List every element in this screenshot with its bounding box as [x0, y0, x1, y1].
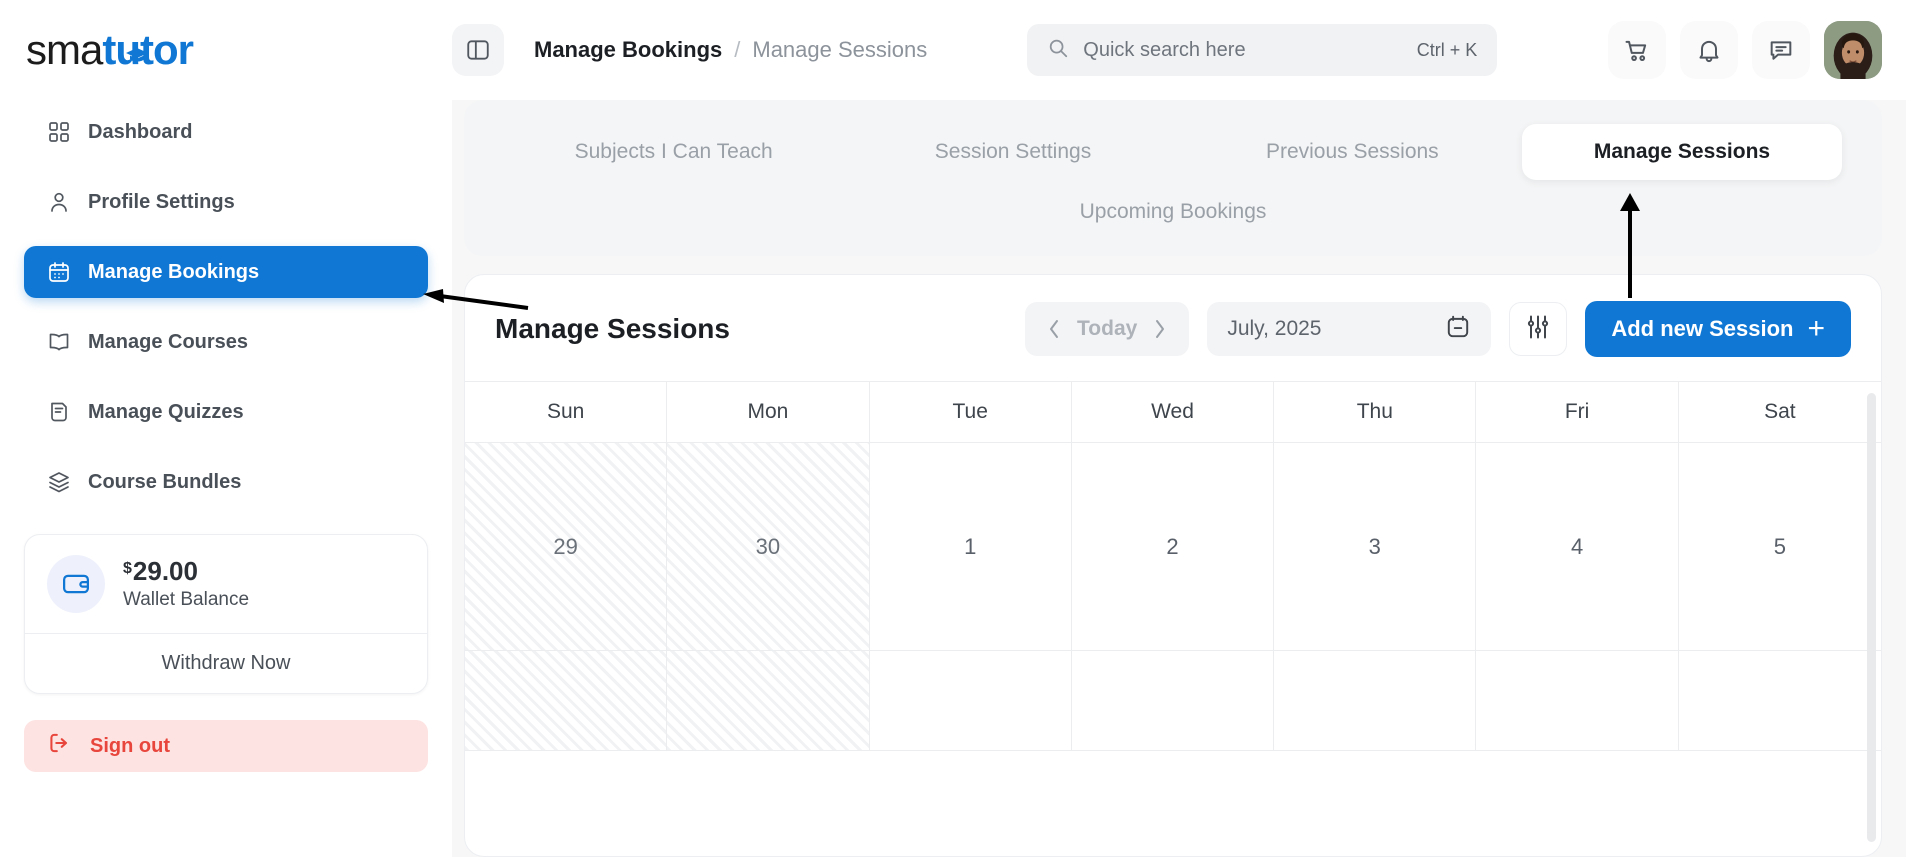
calendar-week-row — [465, 651, 1881, 751]
sign-out-label: Sign out — [90, 735, 170, 758]
plus-icon: + — [1807, 314, 1825, 344]
sidebar: smatutor Dashboard Profile Settings — [0, 0, 452, 857]
search-shortcut: Ctrl + K — [1417, 40, 1478, 61]
sidebar-item-label: Manage Courses — [88, 331, 248, 354]
wallet-amount: $29.00 — [123, 557, 249, 587]
currency-symbol: $ — [123, 560, 132, 577]
calendar-day-cell[interactable] — [1274, 651, 1476, 751]
calendar-day-cell[interactable] — [1476, 651, 1678, 751]
panel-toggle-icon[interactable] — [452, 24, 504, 76]
brand-logo[interactable]: smatutor — [24, 0, 428, 100]
wallet-card: $29.00 Wallet Balance Withdraw Now — [24, 534, 428, 694]
cart-icon[interactable] — [1608, 21, 1666, 79]
chat-icon[interactable] — [1752, 21, 1810, 79]
weekday-header-row: Sun Mon Tue Wed Thu Fri Sat — [465, 381, 1881, 443]
calendar-day-cell[interactable]: 29 — [465, 443, 667, 651]
book-icon — [46, 329, 72, 355]
add-new-session-button[interactable]: Add new Session + — [1585, 301, 1851, 357]
wallet-text: $29.00 Wallet Balance — [123, 557, 249, 611]
tab-session-settings[interactable]: Session Settings — [843, 124, 1182, 180]
calendar-grid: Sun Mon Tue Wed Thu Fri Sat 29 30 1 2 3 — [465, 381, 1881, 856]
weekday-thu: Thu — [1274, 382, 1476, 443]
breadcrumb-separator: / — [734, 37, 740, 63]
sidebar-nav: Dashboard Profile Settings Manage Bookin… — [24, 106, 428, 508]
avatar[interactable] — [1824, 21, 1882, 79]
sidebar-item-dashboard[interactable]: Dashboard — [24, 106, 428, 158]
sidebar-item-label: Course Bundles — [88, 471, 241, 494]
search-placeholder: Quick search here — [1083, 39, 1402, 62]
tab-previous-sessions[interactable]: Previous Sessions — [1183, 124, 1522, 180]
calendar-day-cell[interactable]: 2 — [1072, 443, 1274, 651]
calendar-day-cell[interactable] — [1679, 651, 1881, 751]
sidebar-item-manage-quizzes[interactable]: Manage Quizzes — [24, 386, 428, 438]
calendar-day-cell[interactable] — [870, 651, 1072, 751]
weekday-sun: Sun — [465, 382, 667, 443]
calendar-day-cell[interactable]: 4 — [1476, 443, 1678, 651]
tab-bar: Subjects I Can Teach Session Settings Pr… — [464, 100, 1882, 256]
wallet-summary: $29.00 Wallet Balance — [25, 535, 427, 633]
add-new-session-label: Add new Session — [1611, 316, 1793, 342]
sidebar-item-profile-settings[interactable]: Profile Settings — [24, 176, 428, 228]
calendar-week-row: 29 30 1 2 3 4 5 — [465, 443, 1881, 651]
wallet-label: Wallet Balance — [123, 589, 249, 611]
tab-upcoming-bookings[interactable]: Upcoming Bookings — [1050, 194, 1297, 230]
sidebar-item-manage-bookings[interactable]: Manage Bookings — [24, 246, 428, 298]
filter-button[interactable] — [1509, 302, 1567, 356]
graduation-cap-icon — [126, 27, 148, 69]
breadcrumb-current: Manage Sessions — [752, 37, 927, 63]
main-column: Manage Bookings / Manage Sessions Quick … — [452, 0, 1906, 857]
sidebar-item-label: Manage Quizzes — [88, 401, 244, 424]
avatar-image — [1824, 21, 1882, 79]
quiz-icon — [46, 399, 72, 425]
calendar-day-cell[interactable] — [1072, 651, 1274, 751]
calendar-toolbar: Manage Sessions Today July, 2025 — [465, 275, 1881, 381]
top-bar: Manage Bookings / Manage Sessions Quick … — [452, 0, 1906, 100]
today-label: Today — [1077, 317, 1137, 341]
chevron-right-icon[interactable] — [1153, 318, 1167, 340]
tab-manage-sessions[interactable]: Manage Sessions — [1522, 124, 1842, 180]
tab-row-secondary: Upcoming Bookings — [504, 194, 1842, 230]
calendar-day-cell[interactable]: 3 — [1274, 443, 1476, 651]
bell-icon[interactable] — [1680, 21, 1738, 79]
calendar-day-cell[interactable]: 30 — [667, 443, 869, 651]
breadcrumb: Manage Bookings / Manage Sessions — [534, 37, 927, 63]
sidebar-item-label: Profile Settings — [88, 191, 235, 214]
grid-icon — [46, 119, 72, 145]
calendar-minus-icon — [1445, 314, 1471, 345]
weekday-fri: Fri — [1476, 382, 1678, 443]
sidebar-item-course-bundles[interactable]: Course Bundles — [24, 456, 428, 508]
sidebar-item-manage-courses[interactable]: Manage Courses — [24, 316, 428, 368]
weekday-mon: Mon — [667, 382, 869, 443]
tab-subjects-i-can-teach[interactable]: Subjects I Can Teach — [504, 124, 843, 180]
calendar-day-cell[interactable] — [667, 651, 869, 751]
top-bar-actions — [1608, 21, 1882, 79]
breadcrumb-parent[interactable]: Manage Bookings — [534, 37, 722, 63]
calendar-day-cell[interactable]: 1 — [870, 443, 1072, 651]
withdraw-now-button[interactable]: Withdraw Now — [25, 634, 427, 693]
sidebar-item-label: Dashboard — [88, 121, 192, 144]
sliders-icon — [1524, 313, 1552, 346]
sign-out-button[interactable]: Sign out — [24, 720, 428, 772]
app-root: smatutor Dashboard Profile Settings — [0, 0, 1906, 857]
layers-icon — [46, 469, 72, 495]
user-icon — [46, 189, 72, 215]
content-area: Subjects I Can Teach Session Settings Pr… — [452, 100, 1906, 857]
weekday-wed: Wed — [1072, 382, 1274, 443]
logout-icon — [46, 730, 72, 762]
calendar-card: Manage Sessions Today July, 2025 — [464, 274, 1882, 857]
page-title: Manage Sessions — [495, 313, 730, 345]
logo-part-1: sma — [26, 26, 102, 73]
month-picker[interactable]: July, 2025 — [1207, 302, 1491, 356]
wallet-amount-value: 29.00 — [133, 556, 198, 586]
tab-row-primary: Subjects I Can Teach Session Settings Pr… — [504, 124, 1842, 180]
calendar-day-cell[interactable]: 5 — [1679, 443, 1881, 651]
weekday-sat: Sat — [1679, 382, 1881, 443]
search-input[interactable]: Quick search here Ctrl + K — [1027, 24, 1497, 76]
chevron-left-icon[interactable] — [1047, 318, 1061, 340]
search-icon — [1047, 37, 1069, 64]
calendar-scrollbar[interactable] — [1867, 393, 1876, 842]
today-navigator[interactable]: Today — [1025, 302, 1189, 356]
calendar-day-cell[interactable] — [465, 651, 667, 751]
weekday-tue: Tue — [870, 382, 1072, 443]
sidebar-item-label: Manage Bookings — [88, 261, 259, 284]
wallet-icon — [47, 555, 105, 613]
logo-text: smatutor — [26, 29, 193, 71]
calendar-icon — [46, 259, 72, 285]
month-value: July, 2025 — [1227, 317, 1321, 341]
